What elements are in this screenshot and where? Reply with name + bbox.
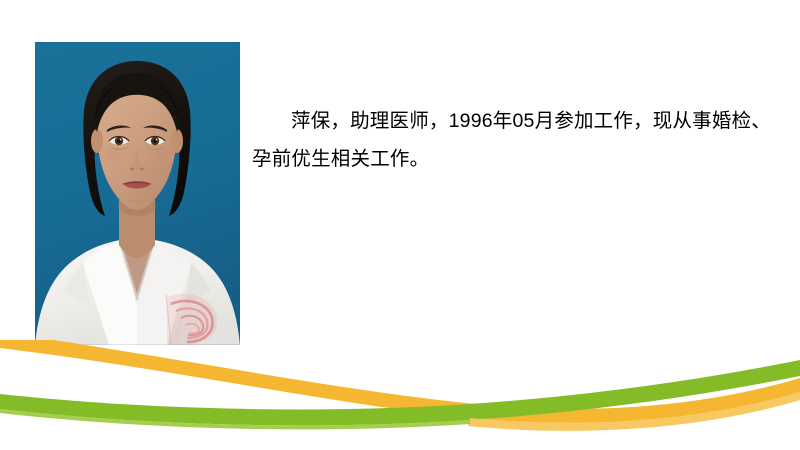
ribbon-waves [0, 340, 800, 450]
slide-canvas: 萍保，助理医师，1996年05月参加工作，现从事婚检、孕前优生相关工作。 [0, 0, 800, 450]
staff-bio-paragraph: 萍保，助理医师，1996年05月参加工作，现从事婚检、孕前优生相关工作。 [252, 102, 772, 178]
portrait-illustration [35, 42, 240, 345]
staff-portrait-photo [35, 42, 240, 345]
ribbon-waves-svg [0, 340, 800, 450]
